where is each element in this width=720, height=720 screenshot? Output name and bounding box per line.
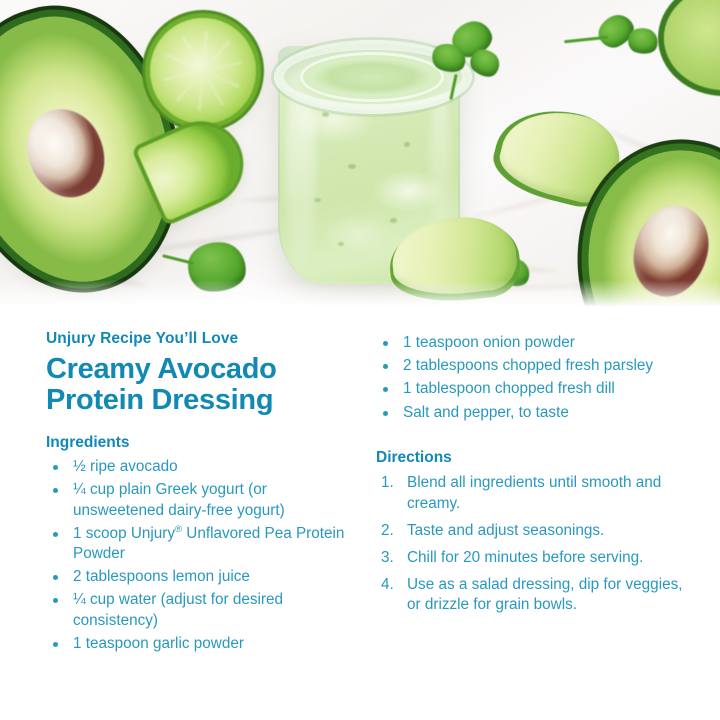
title-line-2: Protein Dressing (46, 385, 358, 416)
herb-fleck (390, 218, 397, 223)
list-item: 1 tablespoon chopped fresh dill (376, 379, 696, 399)
list-item: ¼ cup plain Greek yogurt (or unsweetened… (46, 480, 358, 520)
hero-photo (0, 0, 720, 306)
registered-mark: ® (175, 524, 182, 535)
ingredients-list-right: 1 teaspoon onion powder 2 tablespoons ch… (376, 333, 696, 423)
avocado-pit-icon (14, 97, 117, 209)
left-column: Unjury Recipe You’ll Love Creamy Avocado… (46, 330, 358, 657)
list-item: Taste and adjust seasonings. (376, 521, 696, 541)
directions-heading: Directions (376, 449, 696, 468)
title-line-1: Creamy Avocado (46, 354, 358, 385)
directions-list: Blend all ingredients until smooth and c… (376, 473, 696, 615)
jar-rim-inner (300, 52, 444, 102)
herb-fleck (338, 242, 344, 246)
list-item: ¼ cup water (adjust for desired consiste… (46, 590, 358, 630)
list-item: Use as a salad dressing, dip for veggies… (376, 575, 696, 615)
list-item: 2 tablespoons lemon juice (46, 567, 358, 587)
ingredients-heading: Ingredients (46, 434, 358, 453)
list-item: Chill for 20 minutes before serving. (376, 548, 696, 568)
list-item: 1 teaspoon onion powder (376, 333, 696, 353)
herb-fleck (322, 112, 329, 117)
ingredients-list-left: ½ ripe avocado ¼ cup plain Greek yogurt … (46, 457, 358, 654)
herb-fleck (404, 142, 410, 147)
right-column: 1 teaspoon onion powder 2 tablespoons ch… (376, 333, 696, 622)
list-item: 1 teaspoon garlic powder (46, 634, 358, 654)
page-title: Creamy Avocado Protein Dressing (46, 354, 358, 416)
list-item: Salt and pepper, to taste (376, 403, 696, 423)
recipe-card: Unjury Recipe You’ll Love Creamy Avocado… (0, 0, 720, 720)
eyebrow-text: Unjury Recipe You’ll Love (46, 330, 358, 349)
recipe-body: Unjury Recipe You’ll Love Creamy Avocado… (0, 306, 720, 720)
list-item: 1 scoop Unjury® Unflavored Pea Protein P… (46, 524, 358, 564)
photo-bottom-fade (0, 280, 720, 306)
list-item: 2 tablespoons chopped fresh parsley (376, 356, 696, 376)
list-item: ½ ripe avocado (46, 457, 358, 477)
herb-fleck (348, 164, 356, 169)
list-item: Blend all ingredients until smooth and c… (376, 473, 696, 513)
